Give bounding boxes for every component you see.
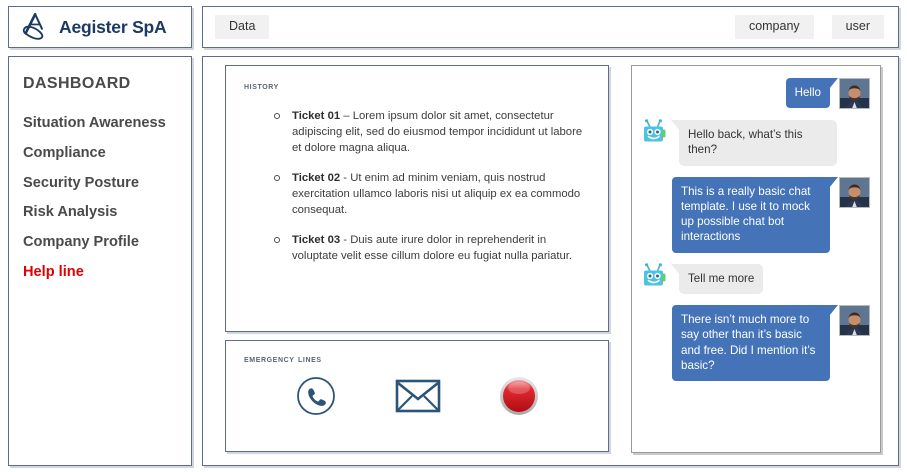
user-photo-avatar bbox=[839, 78, 870, 109]
sidebar-item-company-profile[interactable]: Company Profile bbox=[23, 234, 191, 251]
envelope-icon[interactable] bbox=[395, 378, 441, 414]
brand-name: Aegister SpA bbox=[59, 17, 167, 38]
ticket-id: Ticket 01 bbox=[292, 110, 340, 122]
brand-logo[interactable]: Aegister SpA bbox=[8, 6, 192, 48]
chat-message-user: There isn’t much more to say other than … bbox=[640, 305, 870, 381]
sidebar-item-risk-analysis[interactable]: Risk Analysis bbox=[23, 204, 191, 221]
chat-bubble: Hello back, what’s this then? bbox=[679, 120, 837, 166]
robot-avatar-icon bbox=[640, 262, 670, 292]
history-heading: History bbox=[244, 80, 592, 92]
chat-bubble: There isn’t much more to say other than … bbox=[672, 305, 830, 381]
list-item[interactable]: Ticket 02 - Ut enim ad minim veniam, qui… bbox=[274, 170, 592, 218]
data-button[interactable]: Data bbox=[215, 15, 269, 39]
ticket-separator: - bbox=[340, 234, 350, 246]
sidebar-item-compliance[interactable]: Compliance bbox=[23, 145, 191, 162]
company-button[interactable]: company bbox=[735, 15, 814, 39]
sidebar: DASHBOARD Situation Awareness Compliance… bbox=[8, 56, 192, 466]
user-button[interactable]: user bbox=[832, 15, 884, 39]
chat-bubble: Tell me more bbox=[679, 264, 763, 294]
chat-message-bot: Hello back, what’s this then? bbox=[640, 120, 870, 166]
history-card: History Ticket 01 – Lorem ipsum dolor si… bbox=[225, 65, 609, 332]
chat-panel[interactable]: Hello bbox=[631, 65, 881, 453]
phone-icon[interactable] bbox=[295, 375, 337, 417]
panic-button-icon[interactable] bbox=[499, 376, 539, 416]
chat-bubble: This is a really basic chat template. I … bbox=[672, 177, 830, 253]
ticket-separator: – bbox=[340, 110, 353, 122]
sidebar-item-security-posture[interactable]: Security Posture bbox=[23, 175, 191, 192]
dashboard-app: Aegister SpA Data company user DASHBOARD… bbox=[0, 0, 907, 472]
chat-message-bot: Tell me more bbox=[640, 264, 870, 294]
ticket-separator: - bbox=[340, 172, 350, 184]
user-photo-avatar bbox=[839, 305, 870, 336]
emergency-lines-heading: Emergency Lines bbox=[244, 353, 608, 365]
ticket-id: Ticket 02 bbox=[292, 172, 340, 184]
chat-message-user: Hello bbox=[640, 78, 870, 109]
sidebar-item-situation-awareness[interactable]: Situation Awareness bbox=[23, 115, 191, 132]
chat-message-user: This is a really basic chat template. I … bbox=[640, 177, 870, 253]
ticket-id: Ticket 03 bbox=[292, 234, 340, 246]
list-item[interactable]: Ticket 01 – Lorem ipsum dolor sit amet, … bbox=[274, 108, 592, 156]
aegister-a-swoosh-logo-icon bbox=[19, 12, 53, 42]
sidebar-item-help-line[interactable]: Help line bbox=[23, 264, 191, 281]
topbar-right-actions: company user bbox=[735, 15, 884, 39]
ticket-list: Ticket 01 – Lorem ipsum dolor sit amet, … bbox=[244, 108, 592, 264]
emergency-lines-card: Emergency Lines bbox=[225, 340, 609, 452]
user-photo-avatar bbox=[839, 177, 870, 208]
top-bar: Data company user bbox=[202, 6, 899, 48]
main-content: History Ticket 01 – Lorem ipsum dolor si… bbox=[202, 56, 899, 466]
sidebar-title: DASHBOARD bbox=[23, 75, 191, 93]
chat-bubble: Hello bbox=[786, 78, 830, 108]
emergency-actions bbox=[244, 375, 608, 417]
list-item[interactable]: Ticket 03 - Duis aute irure dolor in rep… bbox=[274, 232, 592, 264]
robot-avatar-icon bbox=[640, 118, 670, 148]
